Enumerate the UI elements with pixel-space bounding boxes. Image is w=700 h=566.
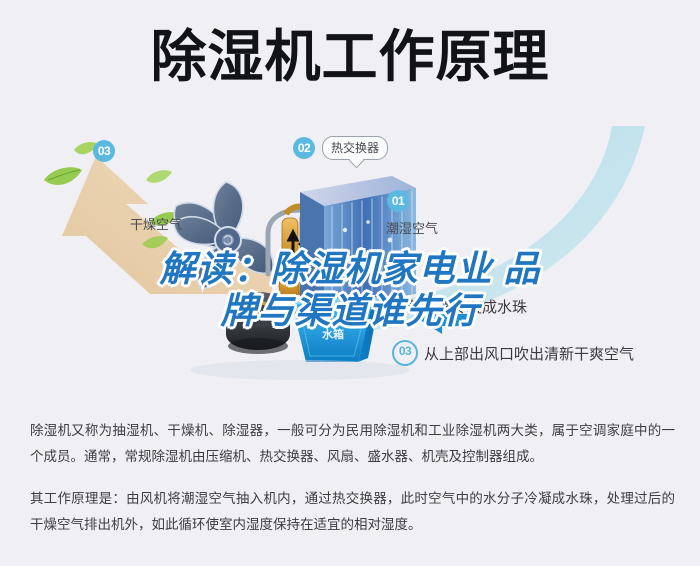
label-humid-air: 潮湿空气 (386, 218, 438, 237)
badge-01: 01 (387, 190, 409, 212)
legend-01-partial: 潮湿 (388, 258, 412, 275)
legend-item-02: 过蒸发器冷凝成水珠 (392, 296, 527, 317)
ground-shadow (190, 360, 410, 380)
page-title-text: 除湿机工作原理 (151, 28, 550, 87)
label-dry-air: 干燥空气 (130, 214, 182, 233)
legend-03-text: 从上部出风口吹出清新干爽空气 (424, 343, 634, 364)
legend-badge-03: 03 (392, 340, 418, 366)
badge-03: 03 (93, 140, 115, 162)
heat-exchanger-bubble: 热交换器 (322, 136, 388, 160)
body-paragraph-2: 其工作原理是：由风机将潮湿空气抽入机内，通过热交换器，此时空气中的水分子冷凝成水… (30, 486, 675, 539)
badge-02: 02 (293, 137, 315, 159)
dehumidifier-diagram: 03 干燥空气 02 热交换器 01 潮湿空气 水箱 过蒸发器冷凝成水珠 03 … (0, 118, 700, 410)
legend-02-text: 过蒸发器冷凝成水珠 (392, 296, 527, 317)
body-paragraph-1: 除湿机又称为抽湿机、干燥机、除湿器，一般可分为民用除湿机和工业除湿机两大类，属于… (30, 418, 675, 471)
compressor-unit (226, 292, 290, 354)
page-title: 除湿机工作原理 (0, 28, 700, 87)
label-water-tank: 水箱 (322, 326, 344, 342)
legend-item-03: 03 从上部出风口吹出清新干爽空气 (392, 340, 634, 366)
page-root: 除湿机工作原理 (0, 0, 700, 566)
